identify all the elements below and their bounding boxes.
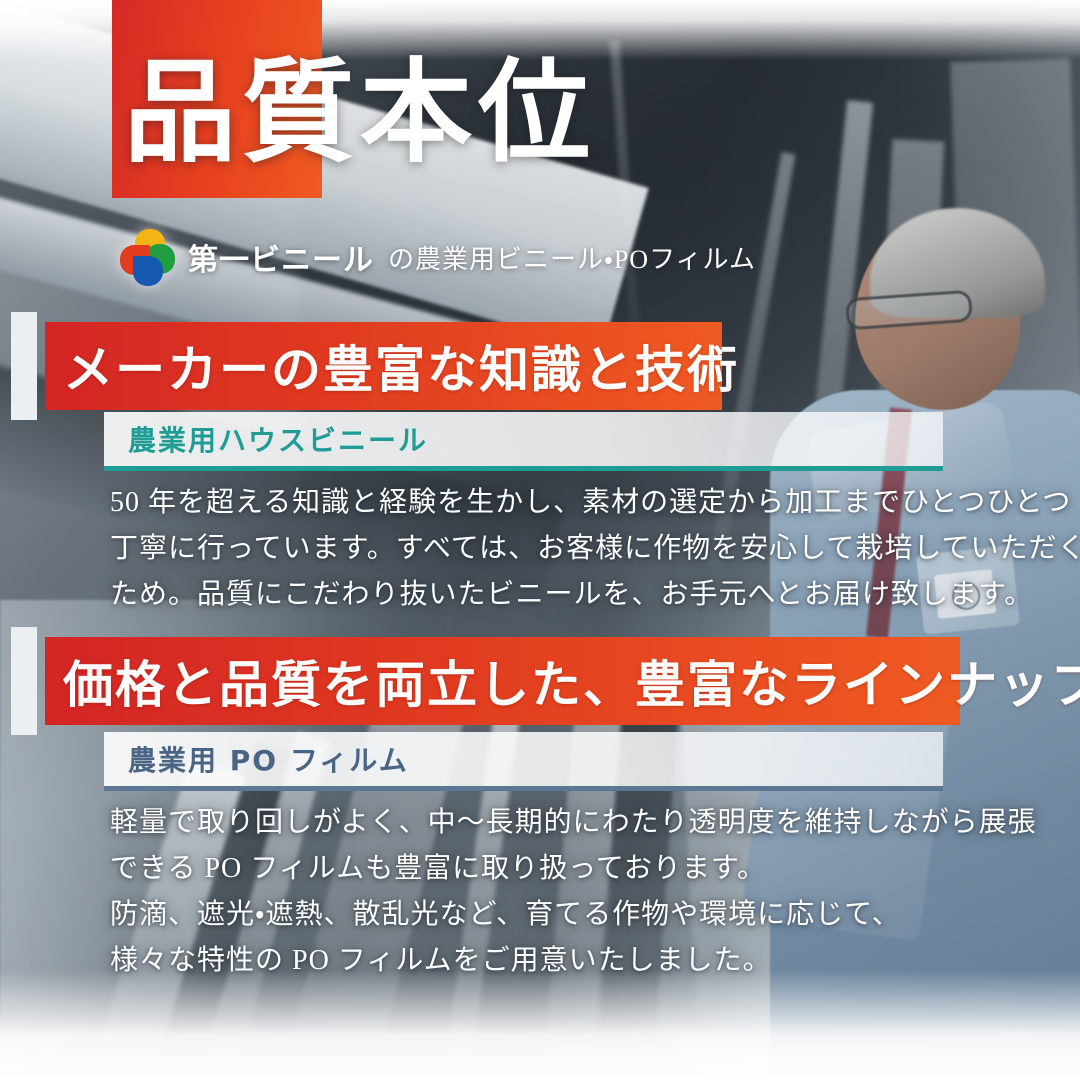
brand-name: 第一ビニール <box>188 235 374 279</box>
content-layer: 品質本位 第一ビニール の農業用ビニール・POフィルム メーカーの豊富な知識と技… <box>0 0 1080 1080</box>
section-subheading-1-text: 農業用ハウスビニール <box>128 419 428 459</box>
section-subheading-plate-2: 農業用 PO フィルム <box>104 732 943 791</box>
promo-banner-canvas: 品質本位 第一ビニール の農業用ビニール・POフィルム メーカーの豊富な知識と技… <box>0 0 1080 1080</box>
hero-title-block: 品質本位 <box>0 0 1080 210</box>
body-line: 防滴、遮光・遮熱、散乱光など、育てる作物や環境に応じて、 <box>110 892 1037 938</box>
daiichi-vinyl-flower-logo-icon <box>118 229 174 285</box>
section-body-2: 軽量で取り回しがよく、中～長期的にわたり透明度を維持しながら展張 できる PO … <box>110 800 1037 984</box>
brand-line: 第一ビニール の農業用ビニール・POフィルム <box>118 228 756 286</box>
page-title: 品質本位 <box>124 58 596 170</box>
section-body-1: 50 年を超える知識と経験を生かし、素材の選定から加工までひとつひとつ 丁寧に行… <box>110 480 1080 618</box>
section-banner-2: 価格と品質を両立した、豊富なラインナップ <box>45 637 960 725</box>
body-line: できる PO フィルムも豊富に取り扱っております。 <box>110 846 1037 892</box>
brand-tagline: の農業用ビニール・POフィルム <box>388 239 756 276</box>
body-line: 丁寧に行っています。すべては、お客様に作物を安心して栽培していただく <box>110 526 1080 572</box>
body-line: 50 年を超える知識と経験を生かし、素材の選定から加工までひとつひとつ <box>110 480 1080 526</box>
section-marker-bar-1 <box>11 312 37 420</box>
section-banner-2-text: 価格と品質を両立した、豊富なラインナップ <box>63 645 1080 717</box>
section-marker-bar-2 <box>11 627 37 735</box>
section-banner-1-text: メーカーの豊富な知識と技術 <box>63 330 739 402</box>
logo-petal-bottom-icon <box>133 256 163 286</box>
section-subheading-plate-1: 農業用ハウスビニール <box>104 412 943 471</box>
body-line: 軽量で取り回しがよく、中～長期的にわたり透明度を維持しながら展張 <box>110 800 1037 846</box>
body-line: ため。品質にこだわり抜いたビニールを、お手元へとお届け致します。 <box>110 572 1080 618</box>
body-line: 様々な特性の PO フィルムをご用意いたしました。 <box>110 938 1037 984</box>
section-subheading-2-text: 農業用 PO フィルム <box>128 739 409 779</box>
section-banner-1: メーカーの豊富な知識と技術 <box>45 322 722 410</box>
